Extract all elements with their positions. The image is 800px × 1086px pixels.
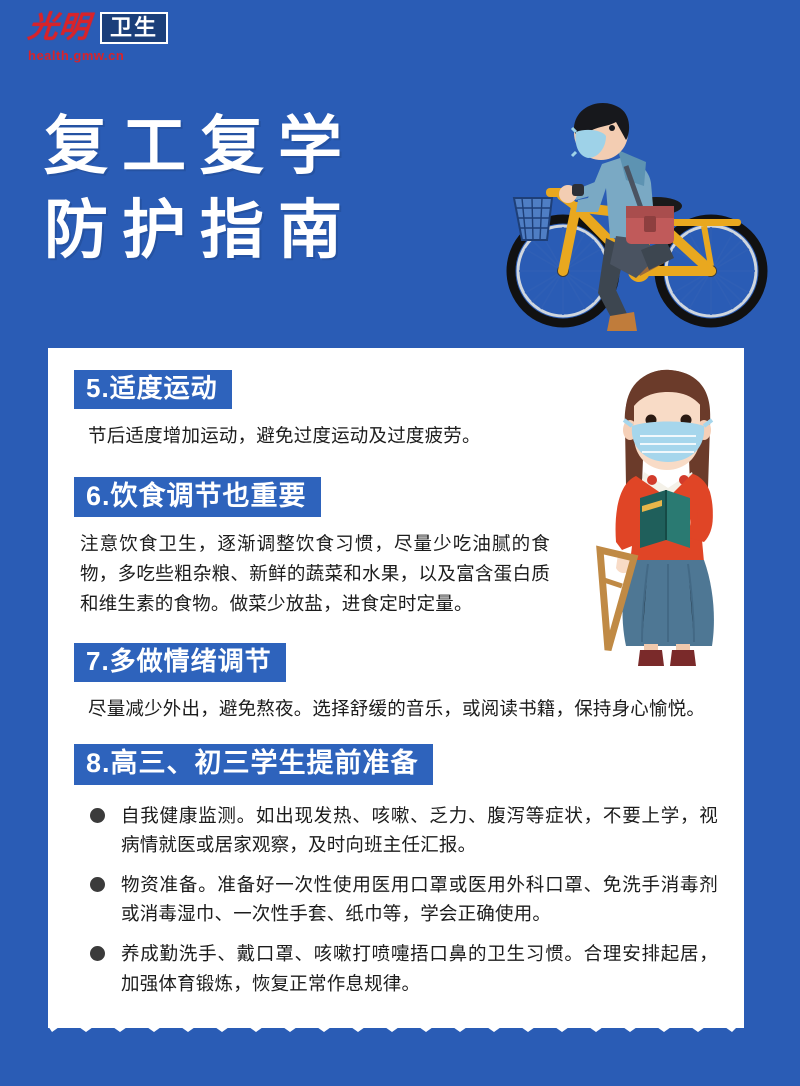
logo-row: 光明 卫生 — [28, 12, 168, 44]
list-item: 物资准备。准备好一次性使用医用口罩或医用外科口罩、免洗手消毒剂或消毒湿巾、一次性… — [82, 870, 718, 929]
list-item: 自我健康监测。如出现发热、咳嗽、乏力、腹泻等症状，不要上学，视病情就医或居家观察… — [82, 801, 718, 860]
section-7-heading: 7.多做情绪调节 — [74, 643, 286, 682]
section-8-heading: 8.高三、初三学生提前准备 — [74, 744, 433, 784]
list-item: 养成勤洗手、戴口罩、咳嗽打喷嚏捂口鼻的卫生习惯。合理安排起居，加强体育锻炼，恢复… — [82, 939, 718, 998]
brand-badge-health: 卫生 — [100, 12, 168, 44]
card-torn-edge — [48, 1018, 744, 1034]
section-7-body: 尽量减少外出，避免熬夜。选择舒缓的音乐，或阅读书籍，保持身心愉悦。 — [88, 694, 718, 724]
section-5-heading: 5.适度运动 — [74, 370, 232, 409]
section-8: 8.高三、初三学生提前准备 自我健康监测。如出现发热、咳嗽、乏力、腹泻等症状，不… — [74, 744, 718, 998]
brand-url: health.gmw.cn — [28, 48, 168, 63]
cyclist-illustration — [506, 88, 786, 338]
bullet-dot-icon — [90, 946, 105, 961]
list-item-text: 养成勤洗手、戴口罩、咳嗽打喷嚏捂口鼻的卫生习惯。合理安排起居，加强体育锻炼，恢复… — [121, 939, 718, 998]
bullet-dot-icon — [90, 808, 105, 823]
list-item-text: 自我健康监测。如出现发热、咳嗽、乏力、腹泻等症状，不要上学，视病情就医或居家观察… — [121, 801, 718, 860]
title-line-1: 复工复学 — [44, 110, 356, 182]
list-item-text: 物资准备。准备好一次性使用医用口罩或医用外科口罩、免洗手消毒剂或消毒湿巾、一次性… — [121, 870, 718, 929]
site-logo: 光明 卫生 health.gmw.cn — [28, 12, 168, 63]
page-title: 复工复学 防护指南 — [44, 104, 356, 273]
section-8-bullet-list: 自我健康监测。如出现发热、咳嗽、乏力、腹泻等症状，不要上学，视病情就医或居家观察… — [82, 801, 718, 999]
title-line-2: 防护指南 — [44, 188, 356, 272]
section-6-body: 注意饮食卫生，逐渐调整饮食习惯，尽量少吃油腻的食物，多吃些粗杂粮、新鲜的蔬菜和水… — [80, 529, 550, 619]
brand-name-guangming: 光明 — [26, 13, 91, 43]
student-illustration — [592, 364, 742, 670]
bullet-dot-icon — [90, 877, 105, 892]
section-6-heading: 6.饮食调节也重要 — [74, 477, 321, 517]
